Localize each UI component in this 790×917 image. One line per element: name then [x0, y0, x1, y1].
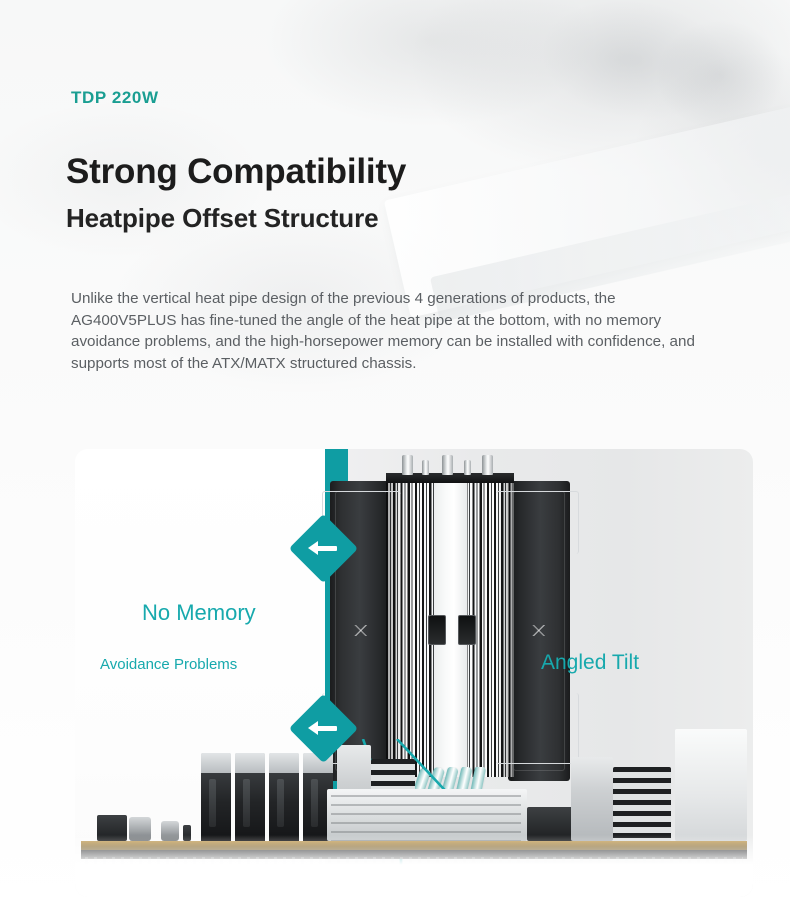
label-avoidance-problems: Avoidance Problems [100, 656, 237, 673]
memory-heatspreader-3 [269, 753, 299, 773]
heatpipe-cap-3 [442, 455, 453, 475]
label-angled-tilt: Angled Tilt [541, 651, 639, 675]
arrow-head-bottom [308, 721, 318, 735]
memory-heatspreader-1 [201, 753, 231, 773]
clearance-arrow-top-icon [299, 524, 348, 573]
outline-wire-top-right [496, 491, 579, 554]
tdp-eyebrow-label: TDP 220W [71, 88, 159, 108]
page-title: Strong Compatibility [66, 152, 406, 192]
memory-heatspreader-2 [235, 753, 265, 773]
brand-logo-icon-left [354, 625, 367, 636]
background-blur-shape-1 [533, 0, 738, 133]
memory-module-1 [201, 753, 231, 841]
panel-floor-fade [75, 835, 753, 897]
clearance-arrow-bottom-icon [299, 704, 348, 753]
io-shroud [675, 729, 747, 841]
description-paragraph: Unlike the vertical heat pipe design of … [71, 288, 701, 374]
label-no-memory: No Memory [142, 600, 256, 626]
arrow-head-top [308, 541, 318, 555]
chipset-heatsink-right [571, 757, 613, 841]
heatpipe-cap-2 [422, 460, 429, 475]
background-blur-shape-3 [384, 106, 790, 317]
vrm-heatsink-fins-right [613, 767, 671, 841]
brand-logo-icon-right [532, 625, 545, 636]
product-feature-page: TDP 220W Strong Compatibility Heatpipe O… [0, 0, 790, 917]
page-subtitle: Heatpipe Offset Structure [66, 203, 378, 234]
memory-module-2 [235, 753, 265, 841]
memory-module-3 [269, 753, 299, 841]
heatpipe-cap-4 [464, 460, 471, 475]
mount-clip-left [428, 615, 446, 645]
product-illustration-panel: No Memory Avoidance Problems Angled Tilt [75, 449, 753, 897]
background-blur-shape-2 [651, 16, 788, 135]
mount-clip-right [458, 615, 476, 645]
arrow-shaft-top [316, 546, 337, 551]
heatpipe-cap-5 [482, 455, 493, 475]
arrow-shaft-bottom [316, 726, 337, 731]
heatpipe-cap-1 [402, 455, 413, 475]
